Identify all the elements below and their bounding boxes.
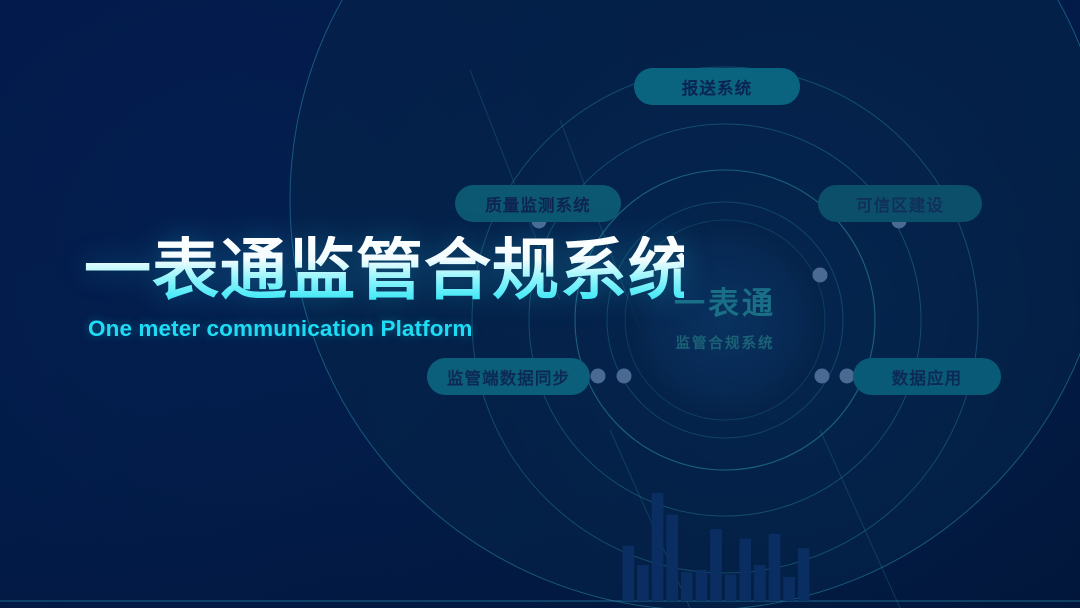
connector-dot-lower-left-b xyxy=(617,369,632,384)
chart-bar xyxy=(710,529,722,601)
headline-block: 一表通监管合规系统 One meter communication Platfo… xyxy=(84,236,684,342)
node-pill-shuju[interactable]: 数据应用 xyxy=(853,358,1001,395)
chart-bar xyxy=(769,534,781,601)
chart-bar xyxy=(681,572,693,601)
chart-bar xyxy=(798,548,810,601)
chart-bar xyxy=(754,565,766,601)
chart-bar xyxy=(783,577,795,601)
chart-bar xyxy=(725,575,737,601)
chart-bar xyxy=(622,546,634,601)
connector-dot-lower-left-a xyxy=(591,369,606,384)
bar-group xyxy=(622,493,809,601)
chart-bar xyxy=(739,539,751,601)
node-pill-kexinqu[interactable]: 可信区建设 xyxy=(818,185,982,222)
chart-bar xyxy=(637,565,649,601)
slide-canvas: 一表通 监管合规系统 报送系统 质量监测系统 可信区建设 监管端数据同步 数据应… xyxy=(0,0,1080,608)
node-pill-tongbu[interactable]: 监管端数据同步 xyxy=(427,358,590,395)
node-pill-zhiliang[interactable]: 质量监测系统 xyxy=(455,185,621,222)
page-title: 一表通监管合规系统 xyxy=(84,236,684,306)
node-pill-baosong[interactable]: 报送系统 xyxy=(634,68,800,105)
chart-bar xyxy=(652,493,664,601)
connector-dot-lower-right-a xyxy=(815,369,830,384)
page-subtitle: One meter communication Platform xyxy=(88,316,684,342)
decorative-bar-chart xyxy=(0,468,1080,608)
chart-bar xyxy=(666,515,678,601)
connector-dot-right xyxy=(813,268,828,283)
chart-bar xyxy=(696,570,708,601)
